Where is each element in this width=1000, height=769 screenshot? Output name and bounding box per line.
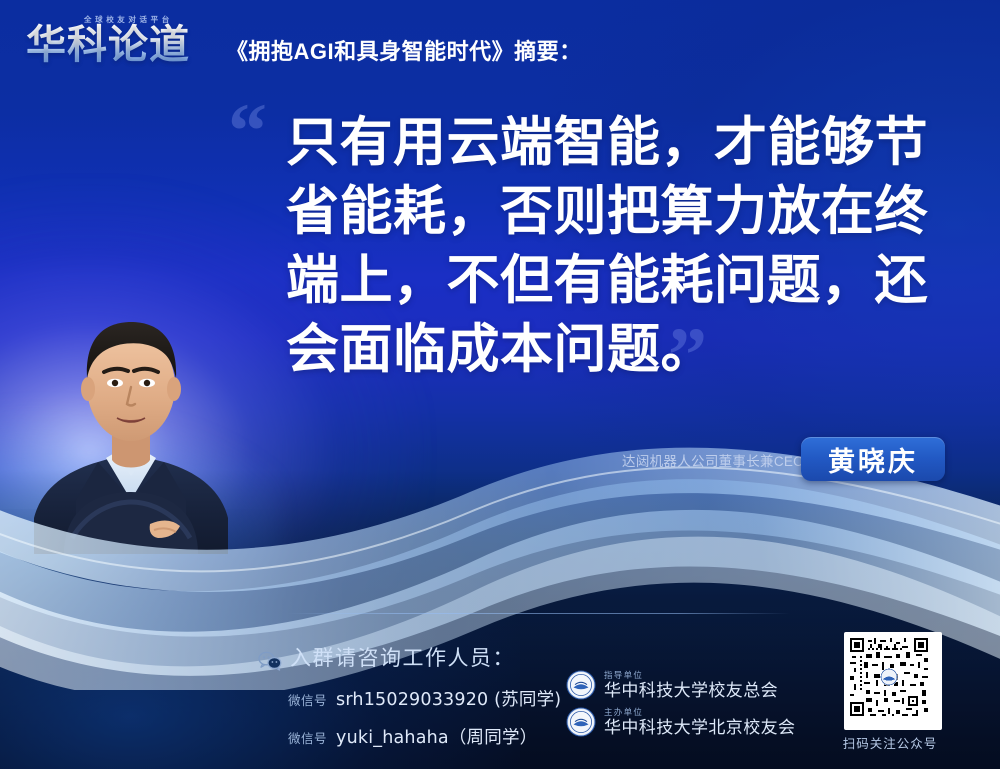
poster-header: 全球校友对话平台 华科论道 《拥抱AGI和具身智能时代》摘要： [0,0,1000,88]
contact-row: 微信号 srh15029033920 (苏同学) [288,686,561,711]
quote-close-mark: ” [668,320,707,390]
organization-name: 华中科技大学北京校友会 [604,719,795,736]
contact-label: 微信号 [288,728,327,747]
brand-logo[interactable]: 全球校友对话平台 华科论道 [26,12,226,70]
quote-line: 端上，不但有能耗问题，还 [286,246,936,315]
organization-kicker: 主办单位 [604,708,795,717]
contact-value[interactable]: yuki_hahaha（周同学） [336,724,537,749]
brand-logo-wordmark: 华科论道 [26,22,190,68]
organization-row: 主办单位 华中科技大学北京校友会 [566,707,795,737]
speaker-title: 达闼机器人公司董事长兼CEO [622,450,804,470]
footer-divider [288,613,790,614]
page-title: 《拥抱AGI和具身智能时代》摘要： [226,34,582,66]
quote-text: 只有用云端智能，才能够节 省能耗，否则把算力放在终 端上，不但有能耗问题，还 会… [286,108,936,384]
speaker-name: 黄晓庆 [828,440,918,479]
contact-row: 微信号 yuki_hahaha（周同学） [288,724,537,749]
speaker-name-badge: 黄晓庆 [801,437,945,481]
organization-name: 华中科技大学校友总会 [604,682,778,699]
qr-caption: 扫码关注公众号 [842,733,938,752]
quote-line: 会面临成本问题。 [286,315,936,384]
university-seal-icon [566,707,596,737]
contact-heading: 入群请咨询工作人员： [290,642,515,672]
contact-value[interactable]: srh15029033920 (苏同学) [336,686,561,711]
quote-line: 省能耗，否则把算力放在终 [286,177,936,246]
poster-canvas: 全球校友对话平台 华科论道 《拥抱AGI和具身智能时代》摘要： “ 只有用云端智… [0,0,1000,769]
university-seal-icon [566,670,596,700]
wechat-icon [258,651,282,671]
organization-kicker: 指导单位 [604,671,778,680]
qr-code[interactable] [844,632,942,730]
quote-line: 只有用云端智能，才能够节 [286,108,936,177]
organization-row: 指导单位 华中科技大学校友总会 [566,670,778,700]
contact-label: 微信号 [288,690,327,709]
quote-open-mark: “ [228,96,267,166]
